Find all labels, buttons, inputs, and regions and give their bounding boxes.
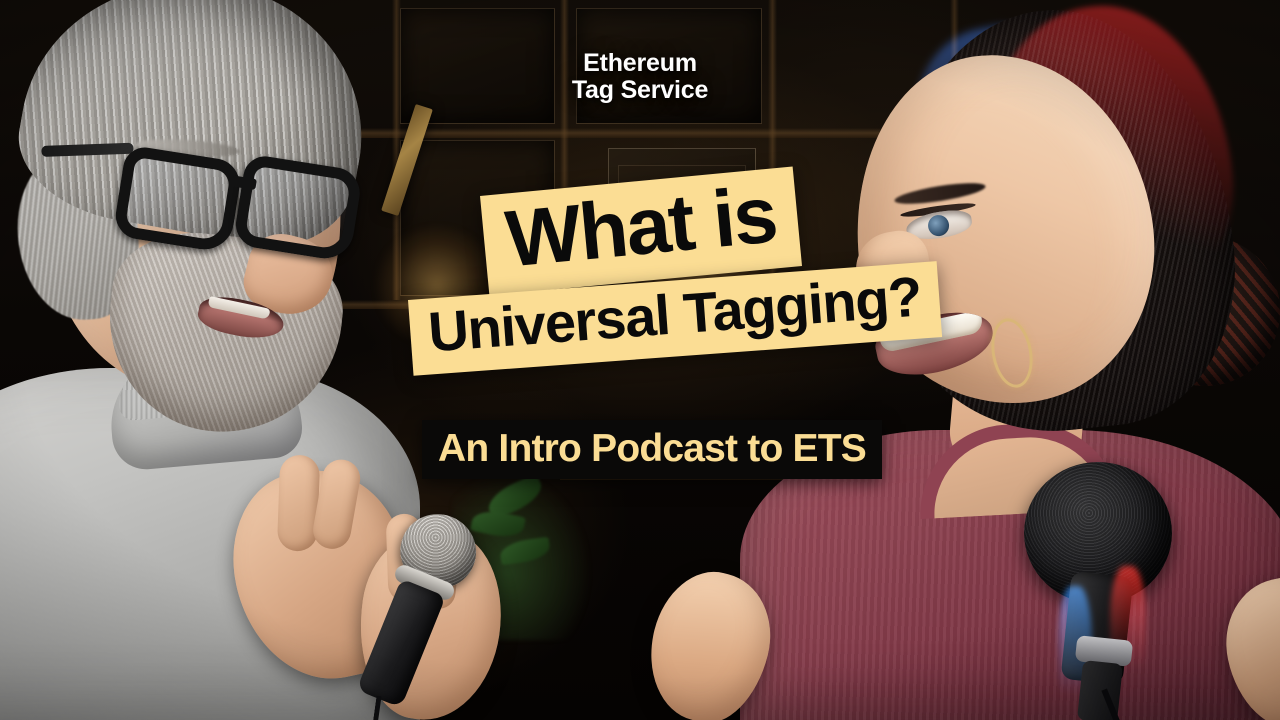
microphone-cable bbox=[364, 696, 495, 720]
glasses-temple-arm bbox=[41, 143, 133, 157]
thumbnail-canvas: Ethereum Tag Service What is Universal T… bbox=[0, 0, 1280, 720]
brand-logo-line-2: Tag Service bbox=[490, 77, 790, 104]
podcast-microphone bbox=[1002, 462, 1202, 720]
brand-logo: Ethereum Tag Service bbox=[490, 50, 790, 104]
subtitle-banner: An Intro Podcast to ETS bbox=[422, 420, 882, 479]
right-speaker-woman bbox=[680, 0, 1280, 720]
brand-logo-line-1: Ethereum bbox=[490, 50, 790, 77]
glasses-lens-left bbox=[112, 144, 243, 253]
woman-iris bbox=[927, 214, 951, 238]
glasses-lens-right bbox=[232, 153, 363, 262]
